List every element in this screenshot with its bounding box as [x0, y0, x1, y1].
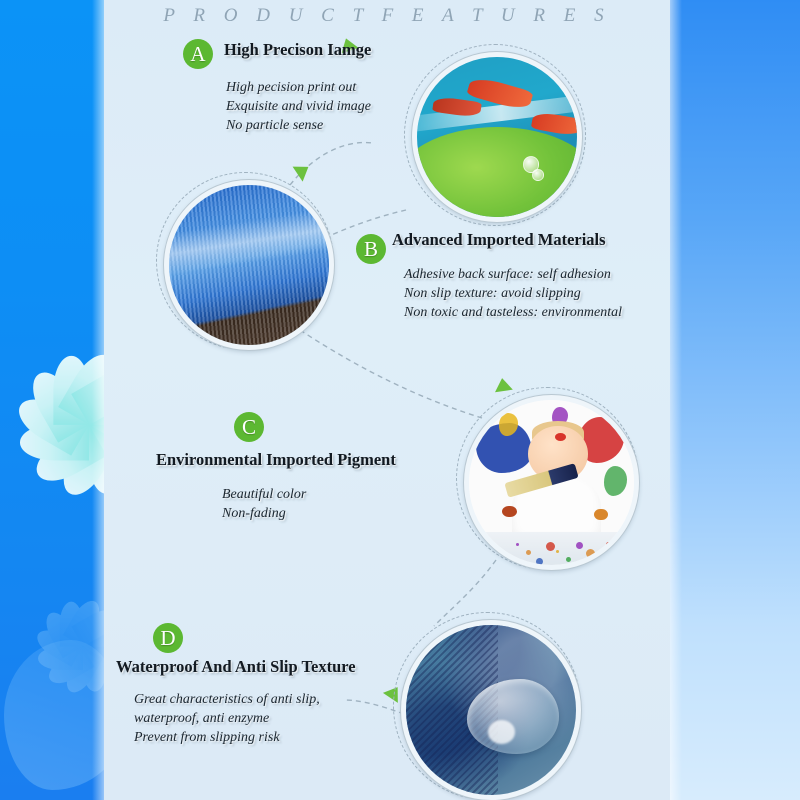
flower-petal	[89, 407, 104, 485]
paint-fleck	[536, 558, 543, 565]
blue-fabric-photo	[164, 180, 334, 350]
paint-fleck	[596, 557, 599, 560]
badge-a: A	[183, 39, 213, 69]
droplet-highlight	[488, 720, 515, 744]
baby-painting-photo	[464, 395, 639, 570]
arrow-to-photo-c	[493, 377, 513, 392]
water-droplet-photo	[401, 620, 581, 800]
paint-fleck	[476, 535, 479, 538]
koi-pond-photo	[412, 52, 582, 222]
left-decorative-band	[0, 0, 104, 800]
paint-fleck	[586, 549, 595, 558]
flower-petal	[89, 425, 104, 494]
feature-a-line: High pecision print out	[226, 78, 371, 97]
feature-b-heading: Advanced Imported Materials	[392, 230, 606, 250]
paint-fleck	[576, 542, 583, 549]
paint-fleck	[516, 543, 519, 546]
feature-a-line: No particle sense	[226, 116, 371, 135]
paint-dot	[594, 509, 607, 521]
main-panel: P R O D U C T F E A T U R E S	[104, 0, 670, 800]
flower-petal	[89, 389, 104, 425]
feature-a-body: High pecision print out Exquisite and vi…	[226, 78, 371, 135]
paint-fleck	[526, 550, 531, 555]
feature-a-heading: High Precison Iamge	[224, 40, 371, 60]
paint-fleck	[486, 543, 491, 548]
badge-d: D	[153, 623, 183, 653]
feature-b-line: Non slip texture: avoid slipping	[404, 284, 622, 303]
feature-d-body: Great characteristics of anti slip, wate…	[134, 690, 320, 747]
feature-d-line: Prevent from slipping risk	[134, 728, 320, 747]
feature-d-line: waterproof, anti enzyme	[134, 709, 320, 728]
decorative-flower	[0, 292, 104, 522]
painted-floor	[469, 532, 634, 565]
water-droplet	[467, 679, 559, 754]
badge-b: B	[356, 234, 386, 264]
feature-a-line: Exquisite and vivid image	[226, 97, 371, 116]
paint-fleck	[496, 550, 503, 557]
paint-fleck	[606, 542, 611, 547]
feature-c-line: Beautiful color	[222, 485, 306, 504]
paint-fleck	[566, 557, 571, 562]
feature-c-line: Non-fading	[222, 504, 306, 523]
feature-c-body: Beautiful color Non-fading	[222, 485, 306, 523]
feature-c-heading: Environmental Imported Pigment	[156, 450, 396, 470]
paint-dot	[502, 506, 517, 518]
feature-d-heading: Waterproof And Anti Slip Texture	[116, 657, 356, 677]
right-decorative-band	[670, 0, 800, 800]
product-features-poster: P R O D U C T F E A T U R E S	[0, 0, 800, 800]
badge-c: C	[234, 412, 264, 442]
water-bubble	[532, 169, 544, 181]
paint-fleck	[546, 542, 555, 551]
paint-fleck	[617, 549, 624, 556]
feature-b-line: Adhesive back surface: self adhesion	[404, 265, 622, 284]
feature-b-body: Adhesive back surface: self adhesion Non…	[404, 265, 622, 322]
lily-pad	[412, 127, 582, 222]
flower-petal	[89, 394, 104, 459]
paint-fleck	[556, 550, 559, 553]
decorative-flower	[8, 560, 104, 710]
feature-b-line: Non toxic and tasteless: environmental	[404, 303, 622, 322]
feature-d-line: Great characteristics of anti slip,	[134, 690, 320, 709]
